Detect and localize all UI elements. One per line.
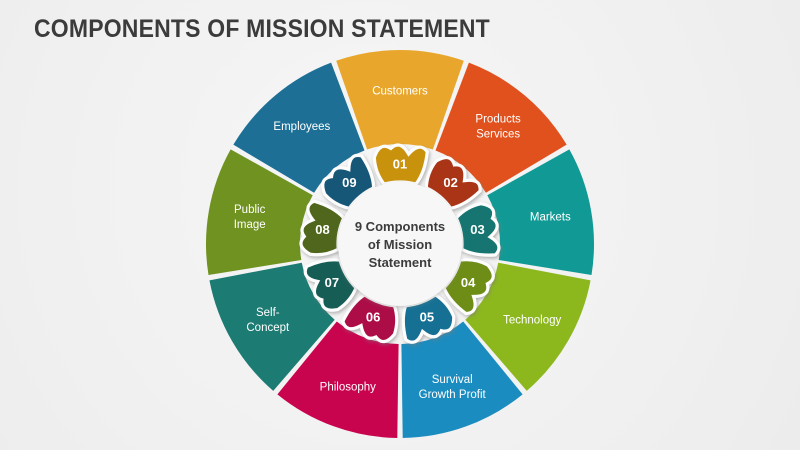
segment-label: Employees [273, 121, 330, 133]
center-title-line: Statement [369, 255, 433, 270]
petal-number: 05 [420, 309, 434, 324]
petal-number: 06 [366, 309, 380, 324]
segment-label: Products [475, 114, 521, 126]
petal-number: 07 [325, 275, 339, 290]
petal-01[interactable]: 01 [374, 145, 427, 184]
center-hub-group: 9 Componentsof MissionStatement [338, 182, 462, 306]
segment-label: Self- [256, 307, 280, 319]
segment-label: Survival [432, 374, 473, 386]
petal-number: 01 [393, 157, 407, 172]
segment-label: Public [234, 204, 266, 216]
petal-number: 04 [461, 275, 476, 290]
petal-number: 03 [470, 222, 484, 237]
petal-number: 09 [342, 175, 356, 190]
segment-label: Image [234, 219, 266, 231]
center-title-line: of Mission [368, 237, 432, 252]
center-title-line: 9 Components [355, 219, 445, 234]
segment-label: Technology [503, 314, 561, 326]
segment-label: Growth Profit [419, 389, 487, 401]
petal-number: 08 [315, 222, 329, 237]
segment-label: Concept [246, 322, 290, 334]
segment-label: Customers [372, 85, 428, 97]
mission-statement-wheel-diagram: CustomersProductsServicesMarketsTechnolo… [0, 0, 800, 450]
petal-08[interactable]: 08 [301, 201, 344, 255]
petal-number: 02 [443, 175, 457, 190]
segment-label: Philosophy [320, 381, 377, 393]
petal-03[interactable]: 03 [456, 204, 499, 255]
segment-label: Markets [530, 212, 571, 224]
slide-canvas: COMPONENTS OF MISSION STATEMENT Customer… [0, 0, 800, 450]
segment-label: Services [476, 129, 520, 141]
